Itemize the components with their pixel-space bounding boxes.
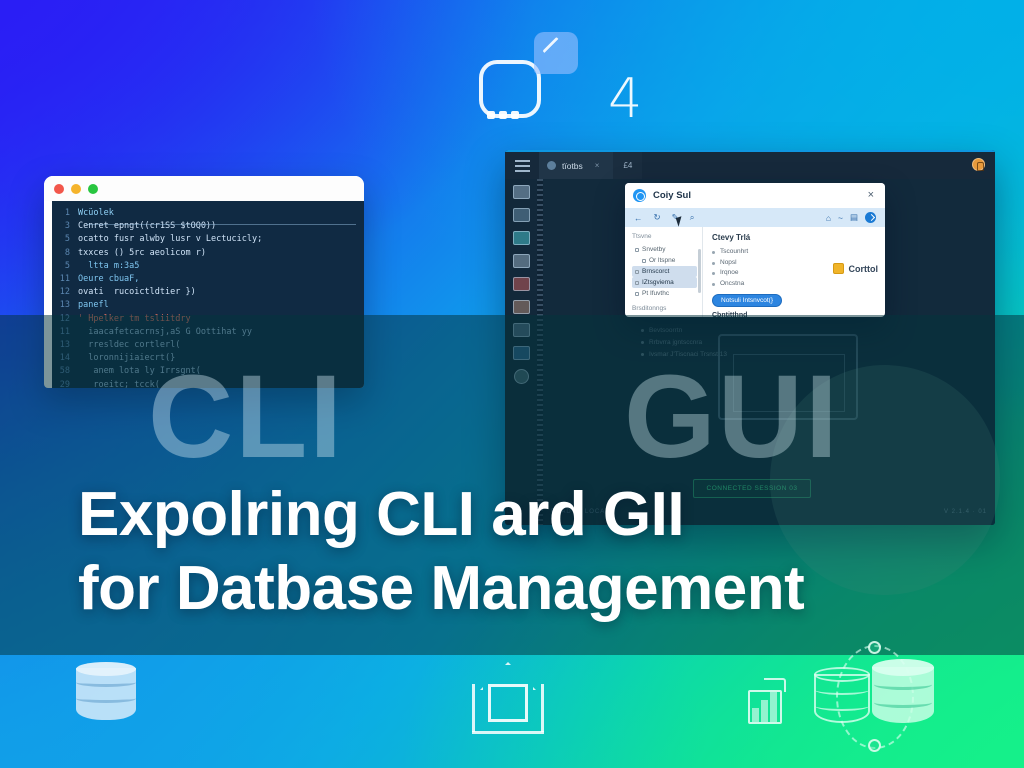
debug-icon[interactable] <box>513 300 530 314</box>
tree-bullet-icon <box>635 292 639 296</box>
title-line-1: Expolring CLI ard GII <box>78 480 684 549</box>
tab-close-icon[interactable]: × <box>595 161 600 170</box>
tree-item-label: Or ltspne <box>649 257 675 264</box>
dialog-toolbar: ← ↻ ✎ ⌕ ⌂ ~ ▤ <box>625 208 885 227</box>
plugin-icon[interactable] <box>513 277 530 291</box>
tab-favicon-icon <box>547 161 556 170</box>
terminal-line: 58 anem lota ly Irrsgnt( <box>52 365 364 378</box>
canvas-shape-inner <box>733 354 845 412</box>
tree-item[interactable]: Brnscorct <box>632 266 697 277</box>
terminal-line-number: 1 <box>52 207 78 220</box>
terminal-line-text: ovati rucoictldtier }) <box>78 286 196 299</box>
terminal-line: 13 rresldec cortlerl( <box>52 339 364 352</box>
terminal-header-rule <box>86 224 356 225</box>
tilde-icon[interactable]: ~ <box>838 213 843 223</box>
terminal-titlebar[interactable] <box>44 176 364 201</box>
clock-icon[interactable] <box>514 369 529 384</box>
ide-activity-bar <box>505 179 537 525</box>
terminal-line-number: 58 <box>52 365 78 378</box>
terminal-line-text: iaacafetcacrnsj,aS G Oottihat yy <box>78 326 252 339</box>
terminal-line: 3Cenret epngt((cr1SS $tOQ0)) <box>52 220 364 233</box>
dialog-title: Coiy Sul <box>653 190 691 201</box>
terminal-code-area[interactable]: 1Wcüolek3Cenret epngt((cr1SS $tOQ0))5oca… <box>52 201 364 388</box>
terminal-icon[interactable] <box>513 231 530 245</box>
database-icon[interactable] <box>513 346 530 360</box>
ghost-list-item: Bevtsoorrtn <box>640 325 870 337</box>
main-header-secondary: Cbntitthnd <box>712 312 877 317</box>
terminal-line: 13panefl <box>52 299 364 312</box>
dialog-app-icon <box>633 189 646 202</box>
terminal-line: 5ocatto fusr alwby lusr v Lectucicly; <box>52 233 364 246</box>
terminal-line: 1Wcüolek <box>52 207 364 220</box>
terminal-line-number: 11 <box>52 326 78 339</box>
tree-bullet-icon <box>635 270 639 274</box>
terminal-line-number: 13 <box>52 299 78 312</box>
ide-ghost-list: BevtsoorrtnRrbvrra jgntsccnraIvsmar J'Ti… <box>640 325 870 361</box>
terminal-line: 8txxces () 5rc aeolicom r) <box>52 247 364 260</box>
tab-secondary-label: £4 <box>623 161 632 170</box>
terminal-line: 11Oeure cbuaF, <box>52 273 364 286</box>
dialog-main-panel: Ctevy Trlá TscounhrtNopslIrqnoeOncstna N… <box>703 227 885 317</box>
tree-item-label: Brnscorct <box>642 268 669 275</box>
layout-icon[interactable] <box>513 208 530 222</box>
ghost-list-item: Rrbvrra jgntsccnra <box>640 337 870 349</box>
terminal-line: 12ovati rucoictldtier }) <box>52 286 364 299</box>
close-icon[interactable]: × <box>865 188 877 203</box>
tree-bullet-icon <box>635 281 639 285</box>
tree-item-label: Pt Ifuvthc <box>642 290 669 297</box>
terminal-line-number: 12 <box>52 286 78 299</box>
dialog-tree-panel[interactable]: Ttsvne SnvetbyOr ltspneBrnscorctIZtsgvie… <box>625 227 703 317</box>
terminal-line: 14 loronnijiaiecrt(} <box>52 352 364 365</box>
tab-active[interactable]: tïotbs × <box>539 152 613 179</box>
dialog-body: Ttsvne SnvetbyOr ltspneBrnscorctIZtsgvie… <box>625 227 885 317</box>
terminal-line-number: 12 <box>52 313 78 326</box>
terminal-line-number: 8 <box>52 247 78 260</box>
terminal-line-number: 5 <box>52 260 78 273</box>
title-line-2: for Datbase Management <box>78 552 968 626</box>
dialog-titlebar: Coiy Sul × <box>625 183 885 208</box>
terminal-line-text: txxces () 5rc aeolicom r) <box>78 247 206 260</box>
tree-item-label: Snvetby <box>642 246 666 253</box>
tree-item[interactable]: Or ltspne <box>632 255 697 266</box>
back-arrow-icon[interactable]: ← <box>634 213 643 223</box>
poster-canvas: 4 1Wcüolek3Cenret epngt((cr1SS $tOQ0))5o… <box>0 0 1024 768</box>
terminal-line-number: 14 <box>52 352 78 365</box>
terminal-line-text: roeitc; tcck( <box>78 379 160 388</box>
explorer-icon[interactable] <box>513 185 530 199</box>
terminal-line-number: 3 <box>52 220 78 233</box>
list-item[interactable]: Oncstna <box>712 279 877 290</box>
terminal-line-text: ltta m:3a5 <box>78 260 139 273</box>
tree-item[interactable]: Pt Ifuvthc <box>632 288 697 299</box>
dots-row-icon <box>487 110 529 119</box>
terminal-line: 5 ltta m:3a5 <box>52 260 364 273</box>
search-icon[interactable]: ⌕ <box>690 212 695 223</box>
tree-item[interactable]: Snvetby <box>632 244 697 255</box>
terminal-line-text: ' Hpelker tm tsliitdry <box>78 313 191 326</box>
package-icon[interactable] <box>513 254 530 268</box>
tree-header: Ttsvne <box>632 233 697 240</box>
terminal-line: 12' Hpelker tm tsliitdry <box>52 313 364 326</box>
list-item[interactable]: Tscounhrt <box>712 247 877 258</box>
terminal-line-text: ocatto fusr alwby lusr v Lectucicly; <box>78 233 262 246</box>
list-icon[interactable]: ▤ <box>850 212 858 223</box>
numeral-four-glyph: 4 <box>608 72 642 126</box>
terminal-line-number: 5 <box>52 233 78 246</box>
ghost-list-item: Ivsmar J'Tiscnaci Trsnst 13 <box>640 349 870 361</box>
terminal-line-text: loronnijiaiecrt(} <box>78 352 175 365</box>
traffic-light-minimize[interactable] <box>71 184 81 194</box>
mouse-cursor <box>676 216 684 226</box>
terminal-line-text: Oeure cbuaF, <box>78 273 139 286</box>
cli-terminal-window: 1Wcüolek3Cenret epngt((cr1SS $tOQ0))5oca… <box>44 176 364 388</box>
control-chip: Corttol <box>833 263 879 274</box>
terminal-line-text: Wcüolek <box>78 207 114 220</box>
tree-footer: Brsditonngs <box>632 305 697 312</box>
page-title: Expolring CLI ard GII for Datbase Manage… <box>78 478 968 626</box>
refresh-icon[interactable]: ↻ <box>654 212 661 223</box>
tree-bullet-icon <box>642 259 646 263</box>
tree-bullet-icon <box>635 248 639 252</box>
tree-scrollbar[interactable] <box>698 249 701 293</box>
control-square-icon <box>833 263 844 274</box>
traffic-light-zoom[interactable] <box>88 184 98 194</box>
tree-item[interactable]: IZtsgviema <box>632 277 697 288</box>
tree-item-label: IZtsgviema <box>642 279 674 286</box>
ide-tab-bar: tïotbs × £4 <box>505 152 995 179</box>
pencil-badge-icon <box>534 32 578 74</box>
user-avatar[interactable] <box>972 158 985 171</box>
terminal-line-number: 29 <box>52 379 78 388</box>
terminal-line: 29 roeitc; tcck( <box>52 379 364 388</box>
submit-round-button[interactable] <box>865 212 876 223</box>
terminal-line-text: panefl <box>78 299 109 312</box>
main-header: Ctevy Trlá <box>712 233 877 242</box>
action-pill-button[interactable]: Notsuli Intsnvcot(} <box>712 294 782 307</box>
query-dialog: Coiy Sul × ← ↻ ✎ ⌕ ⌂ ~ ▤ Ttsvne SnvetbyO… <box>625 183 885 317</box>
terminal-line: 11 iaacafetcacrnsj,aS G Oottihat yy <box>52 326 364 339</box>
terminal-line-number: 13 <box>52 339 78 352</box>
terminal-line-text: Cenret epngt((cr1SS $tOQ0)) <box>78 220 216 233</box>
control-label: Corttol <box>849 264 879 274</box>
extensions-icon[interactable] <box>513 323 530 337</box>
traffic-light-close[interactable] <box>54 184 64 194</box>
terminal-line-number: 11 <box>52 273 78 286</box>
menu-hamburger-icon[interactable] <box>505 152 539 179</box>
terminal-line-text: anem lota ly Irrsgnt( <box>78 365 201 378</box>
home-icon[interactable]: ⌂ <box>826 213 831 223</box>
tab-secondary[interactable]: £4 <box>613 152 642 179</box>
terminal-line-text: rresldec cortlerl( <box>78 339 180 352</box>
tab-active-label: tïotbs <box>562 161 583 171</box>
